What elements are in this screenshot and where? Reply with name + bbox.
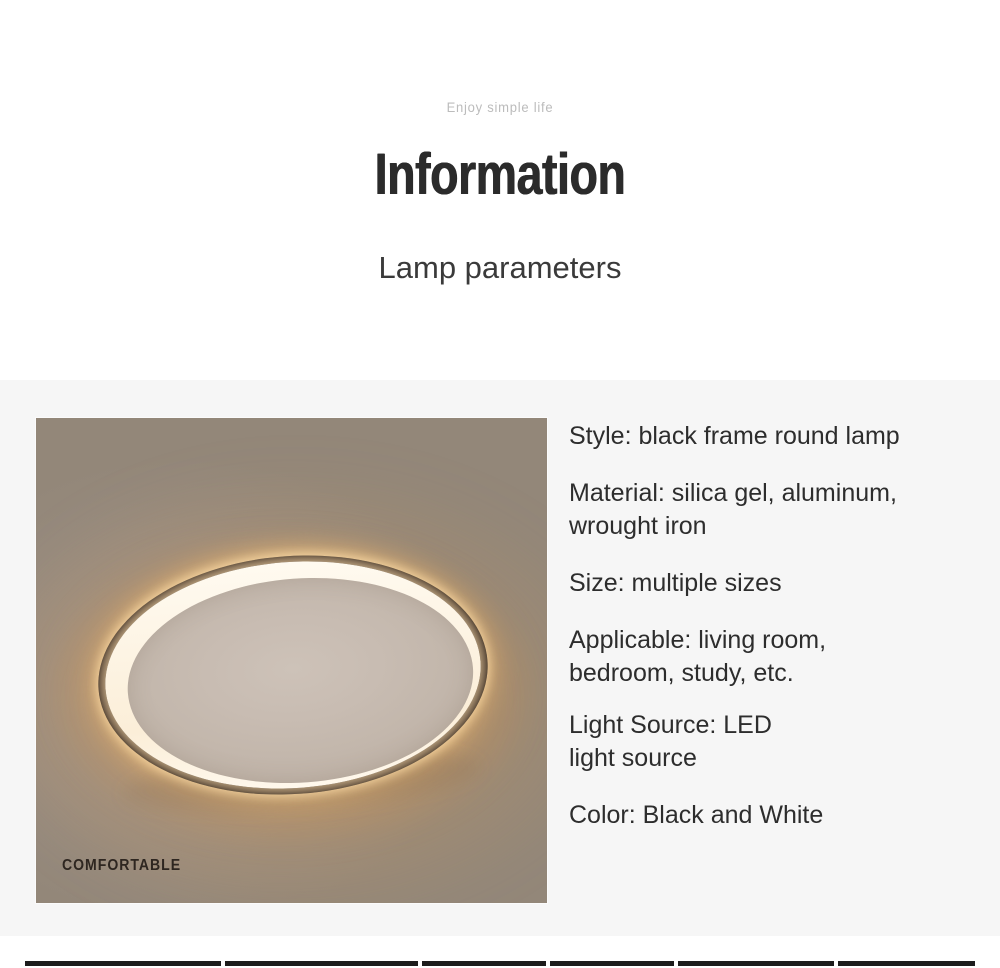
photo-caption: COMFORTABLE	[62, 857, 181, 875]
footer-bar-segment	[838, 961, 975, 966]
spec-item-material: Material: silica gel, aluminum, wrought …	[569, 477, 981, 543]
spec-item-applicable: Applicable: living room, bedroom, study,…	[569, 624, 981, 690]
page-title: Information	[100, 144, 900, 206]
footer-bar-segment	[678, 961, 834, 966]
footer-bar-row	[0, 961, 1000, 966]
round-lamp-illustration	[90, 542, 496, 808]
footer-bar-segment	[550, 961, 674, 966]
spec-item-size: Size: multiple sizes	[569, 567, 981, 600]
product-information-page: Enjoy simple life Information Lamp param…	[0, 0, 1000, 968]
footer-bar-segment	[25, 961, 221, 966]
spec-item-light-source: Light Source: LED light source	[569, 709, 981, 775]
footer-bar-segment	[225, 961, 417, 966]
footer-bar-segment	[422, 961, 546, 966]
page-header: Enjoy simple life Information Lamp param…	[0, 0, 1000, 380]
product-photo: COMFORTABLE	[36, 418, 547, 903]
tagline: Enjoy simple life	[35, 98, 965, 116]
spec-item-color: Color: Black and White	[569, 799, 981, 832]
footer-divider	[0, 936, 1000, 968]
spec-item-style: Style: black frame round lamp	[569, 420, 981, 453]
parameters-section: COMFORTABLE Style: black frame round lam…	[0, 380, 1000, 936]
page-subtitle: Lamp parameters	[0, 248, 1000, 288]
spec-list: Style: black frame round lamp Material: …	[569, 420, 981, 832]
